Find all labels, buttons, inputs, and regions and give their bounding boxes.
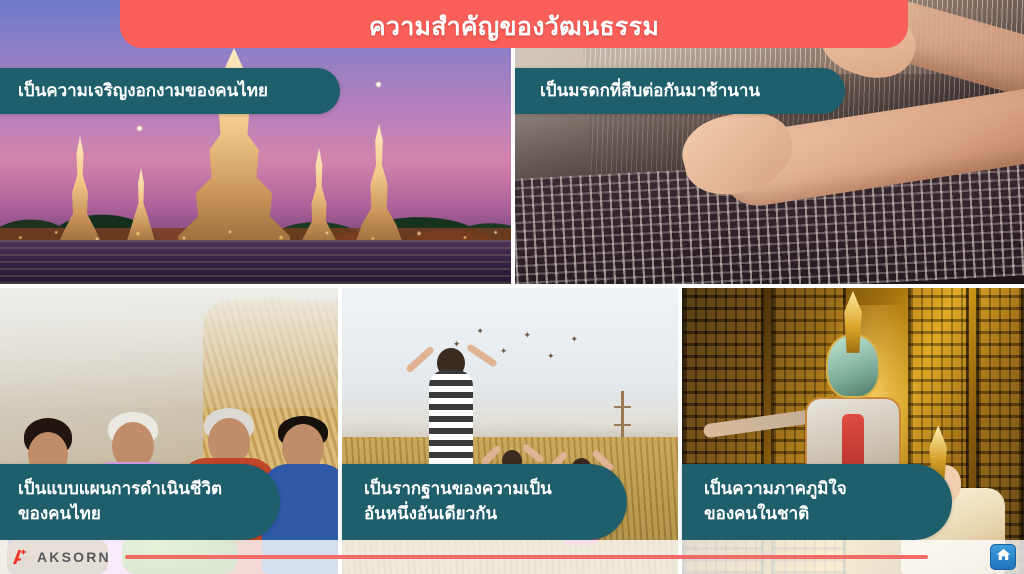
caption-line: เป็นมรดกที่สืบต่อกันมาช้านาน (540, 79, 845, 104)
spire-light (375, 81, 382, 88)
caption-line: เป็นความเจริญงอกงามของคนไทย (18, 79, 340, 104)
caption-pill-5: เป็นความภาคภูมิใจ ของคนในชาติ (682, 464, 952, 540)
aksorn-mark-icon (10, 547, 30, 567)
home-button[interactable] (990, 544, 1016, 570)
brand-name: AKSORN (37, 549, 111, 565)
caption-pill-4: เป็นรากฐานของความเป็น อันหนึ่งอันเดียวกั… (342, 464, 627, 540)
footer-divider (125, 555, 928, 559)
chao-phraya-river (0, 240, 511, 284)
caption-line: ของคนไทย (18, 502, 280, 527)
caption-pill-3: เป็นแบบแผนการดำเนินชีวิต ของคนไทย (0, 464, 280, 540)
title-banner: ความสำคัญของวัฒนธรรม (120, 0, 908, 48)
background-blur (0, 288, 338, 408)
aksorn-logo: AKSORN (10, 547, 111, 567)
spire-light (136, 125, 143, 132)
page-title: ความสำคัญของวัฒนธรรม (369, 13, 659, 42)
caption-line: อันหนึ่งอันเดียวกัน (364, 502, 627, 527)
caption-line: เป็นความภาคภูมิใจ (704, 477, 952, 502)
caption-pill-2: เป็นมรดกที่สืบต่อกันมาช้านาน (515, 68, 845, 114)
slide-canvas: ✦✦ ✦✦ ✦✦ (0, 0, 1024, 574)
caption-line: เป็นแบบแผนการดำเนินชีวิต (18, 477, 280, 502)
caption-pill-1: เป็นความเจริญงอกงามของคนไทย (0, 68, 340, 114)
home-icon (995, 546, 1012, 568)
caption-line: ของคนในชาติ (704, 502, 952, 527)
caption-line: เป็นรากฐานของความเป็น (364, 477, 627, 502)
footer-bar: AKSORN (0, 540, 1024, 574)
